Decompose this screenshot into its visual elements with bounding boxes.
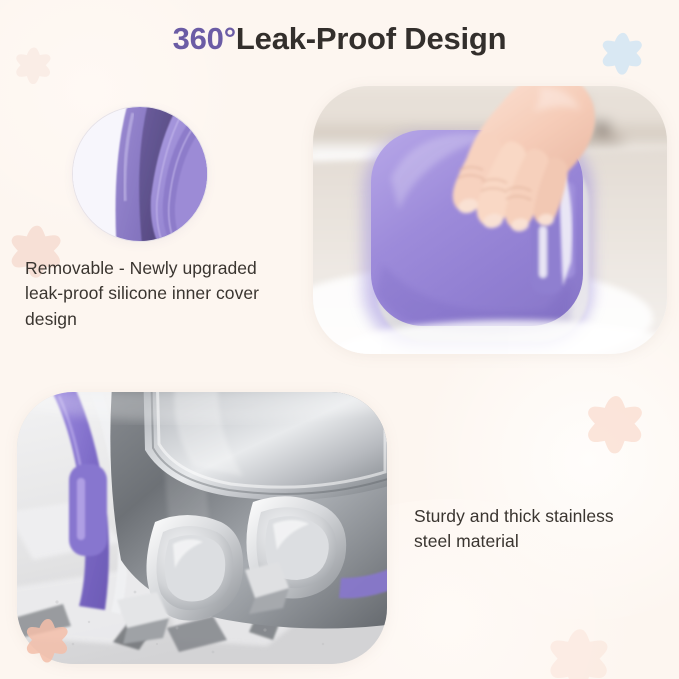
infographic-page: 360°Leak-Proof Design <box>0 0 679 679</box>
title-text: Leak-Proof Design <box>236 21 506 56</box>
feature-caption-stainless-steel: Sturdy and thick stainless steel materia… <box>414 504 654 555</box>
silicone-seal-closeup-inset <box>72 106 208 242</box>
feature-caption-silicone-inner-cover: Removable - Newly upgraded leak-proof si… <box>25 256 293 332</box>
page-title: 360°Leak-Proof Design <box>0 20 679 57</box>
title-accent: 360° <box>173 21 236 56</box>
hand-pressing-purple-lunchbox-lid-photo <box>313 86 667 354</box>
stainless-steel-interior-photo <box>17 392 387 664</box>
